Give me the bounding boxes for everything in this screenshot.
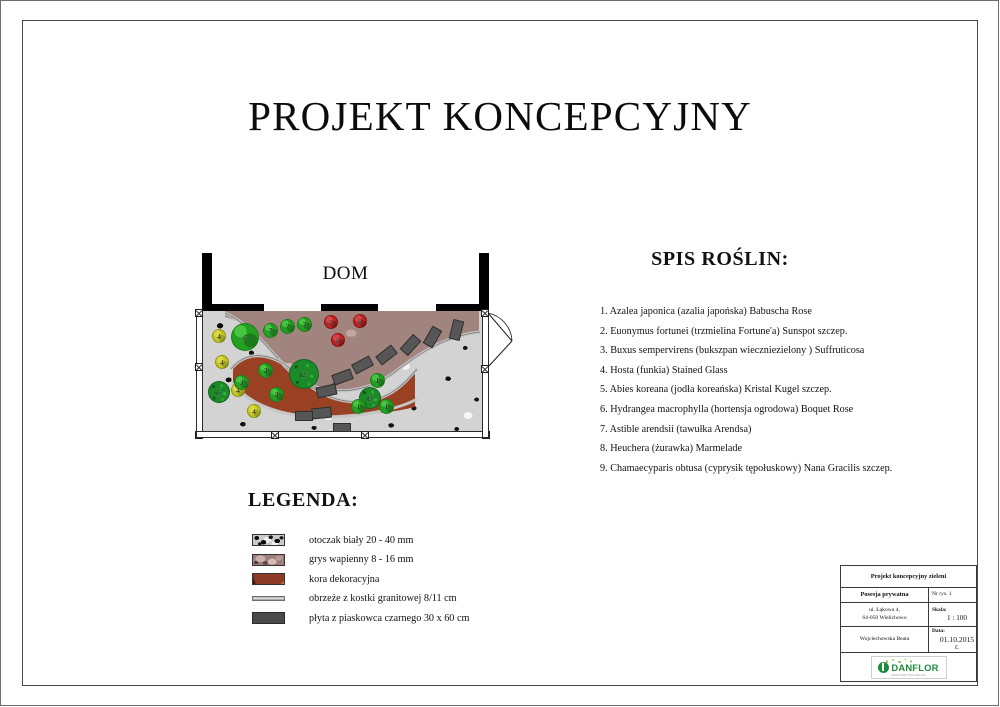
plant-marker-8: 8: [353, 314, 367, 328]
sandstone-slab-swatch: [252, 612, 285, 624]
plant-list-item: 7. Astible arendsii (tawułka Arendsa): [600, 424, 930, 436]
plant-list-item: 3. Buxus sempervirens (bukszpan wiecznie…: [600, 345, 930, 357]
garden-plan: DOM 6: [193, 253, 498, 455]
scale: Skala: 1 : 100: [929, 603, 976, 626]
fence-post: [195, 363, 203, 371]
yard-area: 6 7 7 7 8 8 8 4 4 4 4 5 3 3 3 2 9 1 1 1: [203, 311, 488, 434]
legend-item: otoczak biały 20 - 40 mm: [252, 531, 552, 549]
plant-marker-1: 1: [351, 399, 366, 414]
plant-marker-4: 4: [212, 329, 226, 343]
granite-edging-swatch: [252, 596, 285, 601]
stepping-slab: [311, 406, 332, 419]
plant-marker-1: 1: [379, 399, 394, 414]
plant-marker-4: 4: [247, 404, 261, 418]
title-block-row-author: Wojciechowska Beata Data: 01.10.2015 r.: [841, 627, 976, 653]
stepping-slab: [295, 411, 313, 421]
fence-post: [195, 309, 203, 317]
project-title: Projekt koncepcyjny zieleni: [841, 566, 976, 587]
legend-heading: LEGENDA:: [248, 489, 358, 512]
white-pebble-swatch: [252, 534, 285, 546]
legend-item-label: grys wapienny 8 - 16 mm: [309, 554, 413, 565]
plant-list-item: 8. Heuchera (żurawka) Marmelade: [600, 443, 930, 455]
plant-list-item: 4. Hosta (funkia) Stained Glass: [600, 365, 930, 377]
plant-marker-1: 1: [370, 373, 385, 388]
logo-tagline: ARCHITEKTURA ZIELENI: [872, 674, 946, 677]
limestone-grit-swatch: [252, 554, 285, 566]
fence-left: [196, 311, 203, 437]
plant-marker-6: 6: [231, 323, 259, 351]
plant-marker-7: 7: [263, 323, 278, 338]
house-wall-bottom-a: [202, 304, 264, 311]
house-label: DOM: [202, 263, 489, 285]
plant-marker-7: 7: [297, 317, 312, 332]
plant-marker-4: 4: [215, 355, 229, 369]
plant-marker-8: 8: [331, 333, 345, 347]
date: Data: 01.10.2015 r.: [929, 627, 976, 652]
legend-item-label: płyta z piaskowca czarnego 30 x 60 cm: [309, 613, 469, 624]
fence-bottom: [196, 431, 489, 438]
plant-marker-3: 3: [258, 363, 273, 378]
plant-marker-5: 5: [208, 381, 230, 403]
leaf-icon: [884, 658, 914, 664]
plant-list-item: 2. Euonymus fortunei (trzmielina Fortune…: [600, 326, 930, 338]
legend-item-label: otoczak biały 20 - 40 mm: [309, 535, 413, 546]
legend-item: kora dekoracyjna: [252, 570, 552, 588]
fence-post: [271, 431, 279, 439]
title-block-row-project: Projekt koncepcyjny zieleni: [841, 566, 976, 588]
plant-marker-8: 8: [324, 315, 338, 329]
house-wall-bottom-b: [321, 304, 378, 311]
title-block: Projekt koncepcyjny zieleni Posesja pryw…: [840, 565, 977, 682]
plant-marker-2: 2: [289, 359, 319, 389]
gate-swing-arc: [486, 311, 526, 371]
bark-mulch-swatch: [252, 573, 285, 585]
plant-mark-icon: [878, 662, 889, 673]
fence-post: [361, 431, 369, 439]
legend-item: obrzeże z kostki granitowej 8/11 cm: [252, 590, 552, 608]
plant-list-heading: SPIS ROŚLIN:: [600, 248, 840, 271]
legend-list: otoczak biały 20 - 40 mm grys wapienny 8…: [252, 531, 552, 629]
subject-label: Posesja prywatna: [841, 588, 929, 602]
page-title: PROJEKT KONCEPCYJNY: [0, 92, 1000, 140]
plant-list-item: 5. Abies koreana (jodła koreańska) Krist…: [600, 384, 930, 396]
danflor-logo: DANFLOR ARCHITEKTURA ZIELENI: [871, 656, 947, 679]
plant-list-item: 6. Hydrangea macrophylla (hortensja ogro…: [600, 404, 930, 416]
title-block-row-address: ul. Łąkowa 4, 64-050 Wielichowo Skala: 1…: [841, 603, 976, 627]
plant-list-item: 9. Chamaecyparis obtusa (cyprysik tępołu…: [600, 463, 930, 475]
legend-item: grys wapienny 8 - 16 mm: [252, 551, 552, 569]
title-block-row-logo: DANFLOR ARCHITEKTURA ZIELENI: [841, 653, 976, 681]
plant-marker-3: 3: [269, 387, 284, 402]
drawing-sheet: PROJEKT KONCEPCYJNY DOM: [0, 0, 1000, 707]
drawing-number: Nr rys. 1: [929, 588, 976, 602]
address: ul. Łąkowa 4, 64-050 Wielichowo: [841, 603, 929, 626]
legend-item-label: obrzeże z kostki granitowej 8/11 cm: [309, 593, 457, 604]
legend-item: płyta z piaskowca czarnego 30 x 60 cm: [252, 609, 552, 627]
legend-item-label: kora dekoracyjna: [309, 574, 379, 585]
title-block-row-subject: Posesja prywatna Nr rys. 1: [841, 588, 976, 603]
author-name: Wojciechowska Beata: [841, 627, 929, 652]
plant-marker-7: 7: [280, 319, 295, 334]
plant-list-item: 1. Azalea japonica (azalia japońska) Bab…: [600, 306, 930, 318]
plant-list: 1. Azalea japonica (azalia japońska) Bab…: [600, 306, 930, 482]
